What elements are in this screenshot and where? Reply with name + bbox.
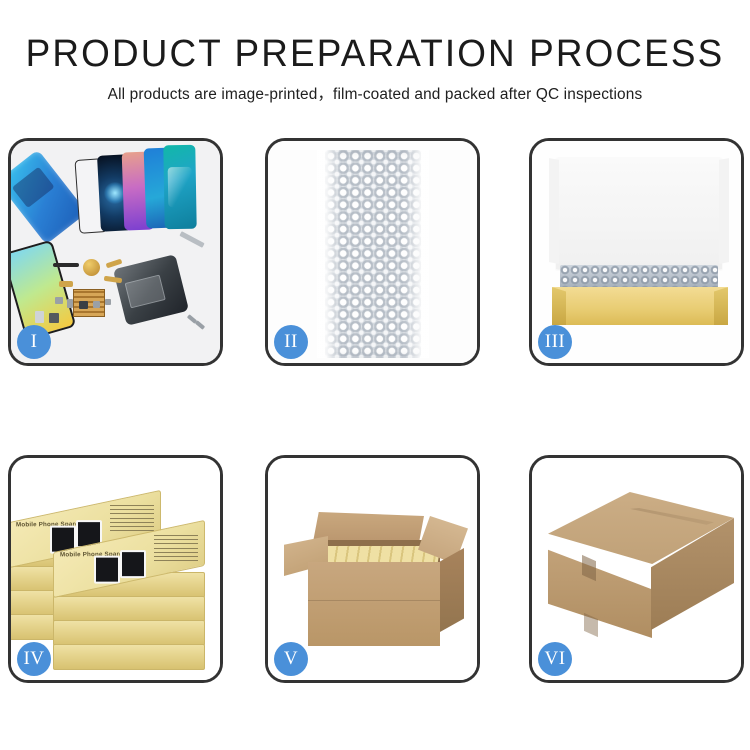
step-badge-4: IV	[17, 642, 51, 676]
bubble-wrap-sheen	[317, 150, 429, 358]
small-part-7	[49, 313, 59, 323]
mailer-tray	[552, 287, 728, 325]
step-badge-1: I	[17, 325, 51, 359]
small-part-6	[35, 311, 44, 323]
step-badge-6: VI	[538, 642, 572, 676]
speaker-part	[53, 263, 79, 267]
step-badge-3: III	[538, 325, 572, 359]
header: PRODUCT PREPARATION PROCESS All products…	[0, 0, 750, 105]
mailer-lid	[556, 157, 722, 269]
carton-front-face	[308, 562, 440, 646]
carton-left-face	[548, 548, 652, 638]
phone-teal	[163, 145, 196, 230]
steps-grid: I II	[8, 138, 745, 683]
page-title: PRODUCT PREPARATION PROCESS	[11, 0, 739, 76]
small-part-4	[93, 301, 100, 308]
open-carton	[290, 496, 466, 656]
small-part-5	[105, 299, 111, 305]
vibration-motor	[83, 259, 100, 276]
small-part-3	[79, 301, 88, 309]
connector-chip-grid	[73, 289, 105, 317]
step-panel-3: III	[529, 138, 744, 366]
flex-cable-3	[59, 281, 73, 287]
step-panel-6: VI	[529, 455, 744, 683]
product-preparation-infographic: PRODUCT PREPARATION PROCESS All products…	[0, 0, 750, 750]
step-badge-2: II	[274, 325, 308, 359]
step-badge-5: V	[274, 642, 308, 676]
step-panel-5: V	[265, 455, 480, 683]
small-part-2	[67, 299, 73, 308]
step-panel-2: II	[265, 138, 480, 366]
small-part-1	[55, 297, 63, 304]
step-panel-4: Mobile Phone Spare Parts Mobile Phone Sp…	[8, 455, 223, 683]
step-panel-1: I	[8, 138, 223, 366]
page-subtitle: All products are image-printed，film-coat…	[0, 76, 750, 105]
sealed-carton	[548, 492, 734, 650]
carton-side-face	[440, 548, 464, 632]
